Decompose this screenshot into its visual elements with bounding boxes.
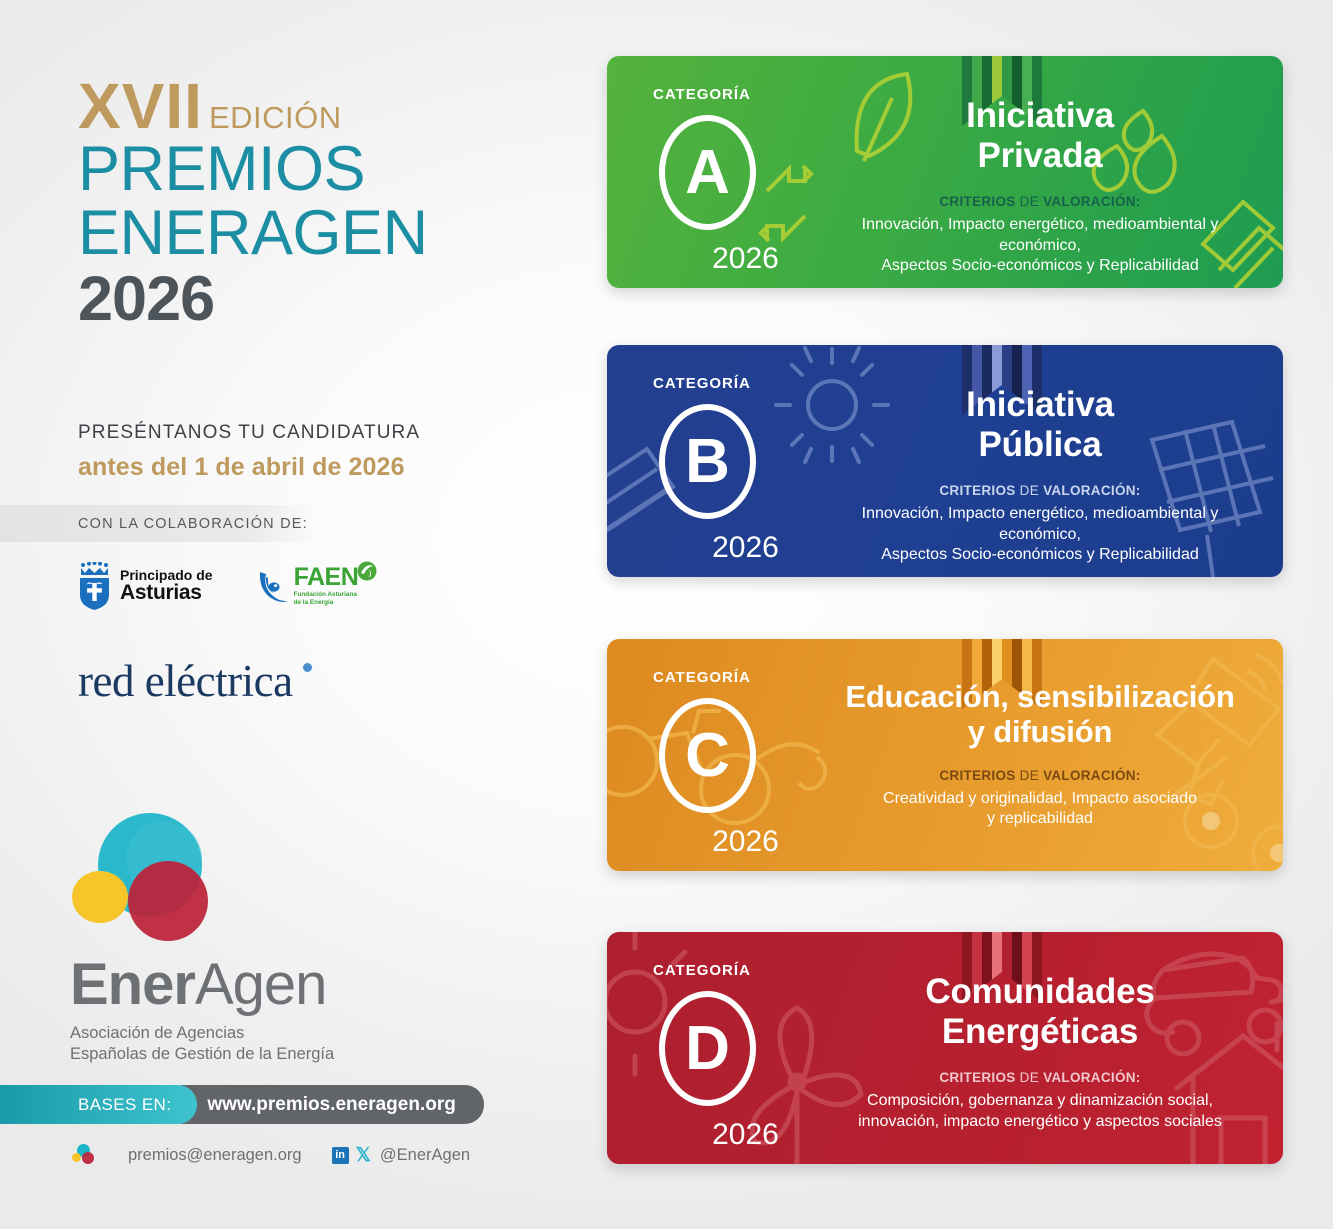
bubble-red (128, 861, 208, 941)
bases-label: BASES EN: (0, 1085, 197, 1124)
card-d-category-label: CATEGORÍA (653, 962, 832, 979)
collaborator-logos: Principado de Asturias FAEN Fundación As… (78, 562, 377, 610)
card-d-criteria-heading: CRITERIOS DE VALORACIÓN: (825, 1070, 1255, 1085)
eneragen-mini-bubbles-icon (72, 1144, 98, 1166)
card-a-content: Iniciativa Privada CRITERIOS DE VALORACI… (825, 96, 1255, 277)
asturias-wordmark: Principado de Asturias (120, 568, 213, 604)
card-c-title-line2: y difusión (825, 714, 1255, 749)
title-premios: PREMIOS (78, 137, 428, 201)
category-card-b[interactable]: CATEGORÍA B 2026 Iniciativa Pública CRIT… (607, 345, 1283, 577)
linkedin-icon[interactable]: in (332, 1147, 349, 1164)
card-c-criteria-strong2: VALORACIÓN: (1043, 768, 1141, 783)
card-b-title-line1: Iniciativa (825, 385, 1255, 425)
category-card-c[interactable]: CATEGORÍA C 2026 Educación, sensibilizac… (607, 639, 1283, 871)
red-electrica-logo: red eléctrica (78, 655, 293, 707)
asturias-line1: Principado de (120, 568, 213, 582)
social-handle[interactable]: @EnerAgen (380, 1146, 470, 1165)
card-c-criteria-heading: CRITERIOS DE VALORACIÓN: (825, 768, 1255, 783)
edition-line: XVII EDICIÓN (78, 76, 428, 137)
faen-leaf-icon (357, 561, 377, 581)
eneragen-tagline-line2: Españolas de Gestión de la Energía (70, 1044, 400, 1065)
card-a-criteria-weak: DE (1016, 194, 1043, 209)
mini-bubble-yellow (72, 1153, 81, 1162)
collaboration-label: CON LA COLABORACIÓN DE: (0, 505, 320, 542)
contact-row: premios@eneragen.org in 𝕏 @EnerAgen (72, 1144, 470, 1166)
eneragen-word-agen: Agen (195, 952, 326, 1017)
card-d-title: Comunidades Energéticas (825, 972, 1255, 1052)
card-a-criteria-body: Innovación, Impacto energético, medioamb… (825, 215, 1255, 277)
card-a-category-label: CATEGORÍA (653, 86, 832, 103)
x-twitter-icon[interactable]: 𝕏 (356, 1146, 371, 1165)
card-a-criteria-line2: Aspectos Socio-económicos y Replicabilid… (825, 256, 1255, 277)
category-card-d[interactable]: CATEGORÍA D 2026 Comunidades Energéticas… (607, 932, 1283, 1164)
card-d-criteria-strong1: CRITERIOS (939, 1070, 1015, 1085)
eneragen-bubbles-icon (70, 805, 280, 960)
card-d-criteria-weak: DE (1016, 1070, 1043, 1085)
card-a-criteria-heading: CRITERIOS DE VALORACIÓN: (825, 194, 1255, 209)
principado-de-asturias-logo: Principado de Asturias (78, 562, 213, 610)
collaboration-label-text: CON LA COLABORACIÓN DE: (78, 516, 308, 532)
page-title: XVII EDICIÓN PREMIOS ENERAGEN 2026 (78, 76, 428, 335)
card-b-title: Iniciativa Pública (825, 385, 1255, 465)
card-c-criteria-line2: y replicabilidad (825, 809, 1255, 830)
card-d-letter: D (659, 991, 756, 1106)
category-card-a[interactable]: CATEGORÍA A 2026 Iniciativa Privada CRIT… (607, 56, 1283, 288)
eneragen-logo: EnerAgen Asociación de Agencias Española… (70, 805, 400, 1065)
eneragen-tagline: Asociación de Agencias Españolas de Gest… (70, 1023, 400, 1065)
eneragen-tagline-line1: Asociación de Agencias (70, 1023, 400, 1044)
card-c-criteria-line1: Creatividad y originalidad, Impacto asoc… (825, 789, 1255, 810)
card-a-title: Iniciativa Privada (825, 96, 1255, 176)
edition-word: EDICIÓN (209, 100, 342, 136)
card-c-category-label: CATEGORÍA (653, 669, 832, 686)
card-b-criteria-strong1: CRITERIOS (939, 483, 1015, 498)
mini-bubble-red (82, 1152, 94, 1164)
card-a-badge: CATEGORÍA A 2026 (647, 86, 832, 276)
eneragen-word-ener: Ener (70, 952, 195, 1017)
card-b-title-line2: Pública (825, 425, 1255, 465)
card-b-criteria-line1: Innovación, Impacto energético, medioamb… (825, 504, 1255, 546)
faen-swirl-icon (257, 568, 291, 608)
card-c-content: Educación, sensibilización y difusión CR… (825, 679, 1255, 830)
asturias-line2: Asturias (120, 582, 213, 603)
cta-headline: PRESÉNTANOS TU CANDIDATURA (78, 422, 420, 444)
card-c-title-line1: Educación, sensibilización (825, 679, 1255, 714)
card-d-criteria-body: Composición, gobernanza y dinamización s… (825, 1091, 1255, 1133)
bases-bar: BASES EN: www.premios.eneragen.org (0, 1085, 484, 1124)
card-a-criteria-strong1: CRITERIOS (939, 194, 1015, 209)
card-d-criteria-line2: innovación, impacto energético y aspecto… (825, 1112, 1255, 1133)
call-to-action: PRESÉNTANOS TU CANDIDATURA antes del 1 d… (78, 422, 420, 482)
card-b-badge: CATEGORÍA B 2026 (647, 375, 832, 565)
card-b-criteria-strong2: VALORACIÓN: (1043, 483, 1141, 498)
faen-logo: FAEN Fundación Asturiana de la Energía (257, 565, 378, 608)
card-d-badge: CATEGORÍA D 2026 (647, 962, 832, 1152)
card-a-title-line1: Iniciativa (825, 96, 1255, 136)
faen-wordmark: FAEN Fundación Asturiana de la Energía (294, 565, 359, 607)
card-b-criteria-line2: Aspectos Socio-económicos y Replicabilid… (825, 545, 1255, 566)
card-c-criteria-strong1: CRITERIOS (939, 768, 1015, 783)
card-d-title-line2: Energéticas (825, 1012, 1255, 1052)
faen-sub2: de la Energía (294, 599, 359, 607)
card-b-content: Iniciativa Pública CRITERIOS DE VALORACI… (825, 385, 1255, 566)
eneragen-wordmark: EnerAgen (70, 956, 400, 1014)
social-links: in 𝕏 @EnerAgen (332, 1146, 470, 1165)
card-c-letter: C (659, 698, 756, 813)
card-b-letter: B (659, 404, 756, 519)
card-c-badge: CATEGORÍA C 2026 (647, 669, 832, 859)
card-a-criteria-strong2: VALORACIÓN: (1043, 194, 1141, 209)
edition-roman: XVII (78, 76, 203, 137)
faen-sub1: Fundación Asturiana (294, 591, 359, 599)
title-year: 2026 (78, 265, 428, 334)
card-b-criteria-weak: DE (1016, 483, 1043, 498)
card-b-year: 2026 (659, 531, 832, 565)
bases-url-link[interactable]: www.premios.eneragen.org (181, 1085, 483, 1124)
card-c-title: Educación, sensibilización y difusión (825, 679, 1255, 750)
card-c-criteria-body: Creatividad y originalidad, Impacto asoc… (825, 789, 1255, 831)
faen-acronym: FAEN (294, 565, 359, 590)
card-d-criteria-line1: Composición, gobernanza y dinamización s… (825, 1091, 1255, 1112)
title-eneragen: ENERAGEN (78, 201, 428, 265)
contact-email-link[interactable]: premios@eneragen.org (128, 1146, 302, 1165)
cta-deadline: antes del 1 de abril de 2026 (78, 453, 420, 482)
card-b-category-label: CATEGORÍA (653, 375, 832, 392)
card-b-criteria-heading: CRITERIOS DE VALORACIÓN: (825, 483, 1255, 498)
card-a-criteria-line1: Innovación, Impacto energético, medioamb… (825, 215, 1255, 257)
card-a-letter: A (659, 115, 756, 230)
card-b-criteria-body: Innovación, Impacto energético, medioamb… (825, 504, 1255, 566)
red-electrica-dot-icon (303, 663, 312, 672)
card-a-title-line2: Privada (825, 136, 1255, 176)
card-c-criteria-weak: DE (1016, 768, 1043, 783)
bubble-yellow (72, 871, 128, 923)
card-d-content: Comunidades Energéticas CRITERIOS DE VAL… (825, 972, 1255, 1132)
card-c-year: 2026 (659, 825, 832, 859)
asturias-shield-icon (78, 562, 111, 610)
card-a-year: 2026 (659, 242, 832, 276)
card-d-year: 2026 (659, 1118, 832, 1152)
poster-left-panel: XVII EDICIÓN PREMIOS ENERAGEN 2026 PRESÉ… (0, 0, 560, 1229)
card-d-title-line1: Comunidades (825, 972, 1255, 1012)
card-d-criteria-strong2: VALORACIÓN: (1043, 1070, 1141, 1085)
